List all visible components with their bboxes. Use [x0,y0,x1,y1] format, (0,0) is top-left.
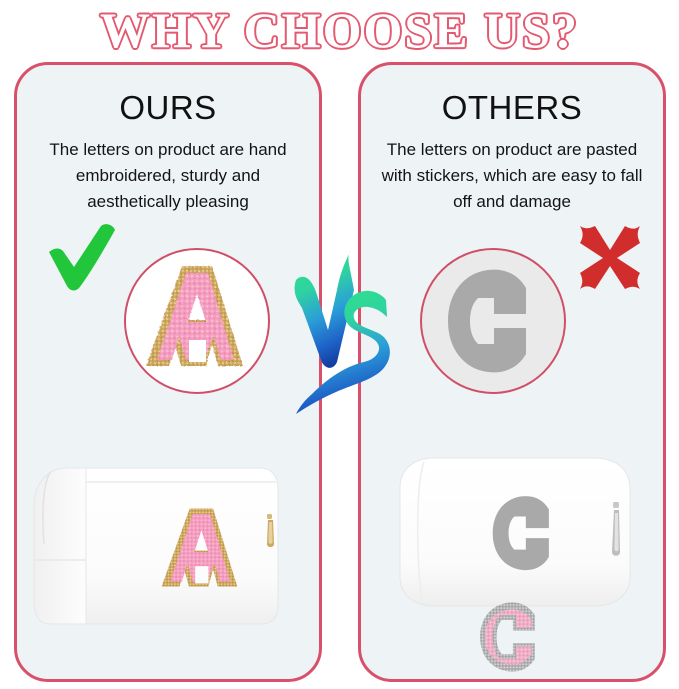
panel-heading-others: OTHERS [361,89,663,127]
check-icon [46,222,118,294]
close-icon [574,222,646,294]
patch-circle-ours [124,248,270,394]
patch-circle-others [420,248,566,394]
product-photo-others [390,448,648,618]
page-title: WHY CHOOSE US? [0,2,679,58]
panel-heading-ours: OURS [17,89,319,127]
fallen-patch-others [466,598,552,676]
chenille-letter-a [126,250,268,392]
sticker-letter-c [422,250,564,392]
infographic-root: WHY CHOOSE US? OURS The letters on produ… [0,0,679,689]
versus-graphic [288,238,398,428]
product-photo-ours [28,448,310,648]
panel-body-ours: The letters on product are hand embroide… [29,137,307,215]
page-title-text: WHY CHOOSE US? [100,4,579,56]
panel-body-others: The letters on product are pasted with s… [373,137,651,215]
